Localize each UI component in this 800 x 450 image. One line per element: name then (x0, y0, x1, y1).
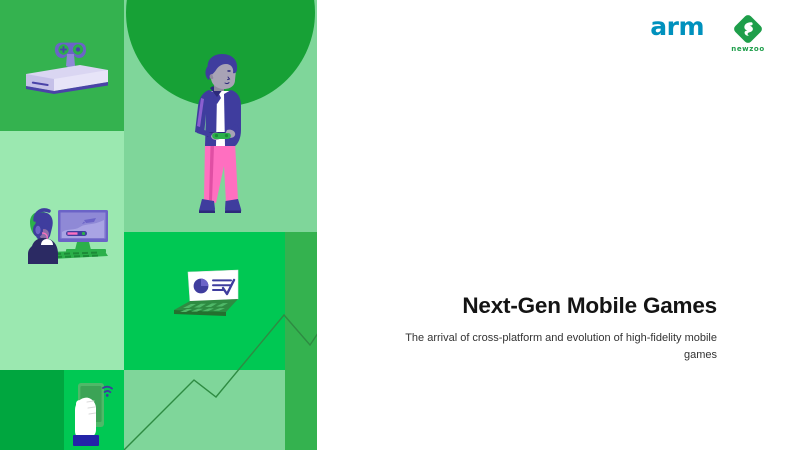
illustration-panel (0, 0, 317, 450)
page-title: Next-Gen Mobile Games (372, 292, 717, 320)
growth-line-chart (124, 225, 317, 450)
game-console-icon (18, 36, 110, 94)
gamer-character-illustration (183, 54, 259, 226)
tile-bottom-left-deep (0, 370, 64, 450)
newzoo-diamond-icon (733, 14, 763, 44)
logo-group: arm newzoo (650, 14, 772, 53)
arm-logo: arm (650, 14, 704, 39)
slide-root: arm newzoo Next-Gen Mobile Games The arr… (0, 0, 800, 450)
desktop-gamer-icon (22, 206, 110, 264)
newzoo-logo: newzoo (724, 14, 772, 53)
hand-phone-icon (68, 378, 122, 450)
newzoo-wordmark: newzoo (731, 45, 765, 53)
page-subtitle: The arrival of cross-platform and evolut… (372, 330, 717, 363)
content-panel: arm newzoo Next-Gen Mobile Games The arr… (317, 0, 800, 450)
title-block: Next-Gen Mobile Games The arrival of cro… (372, 292, 717, 363)
